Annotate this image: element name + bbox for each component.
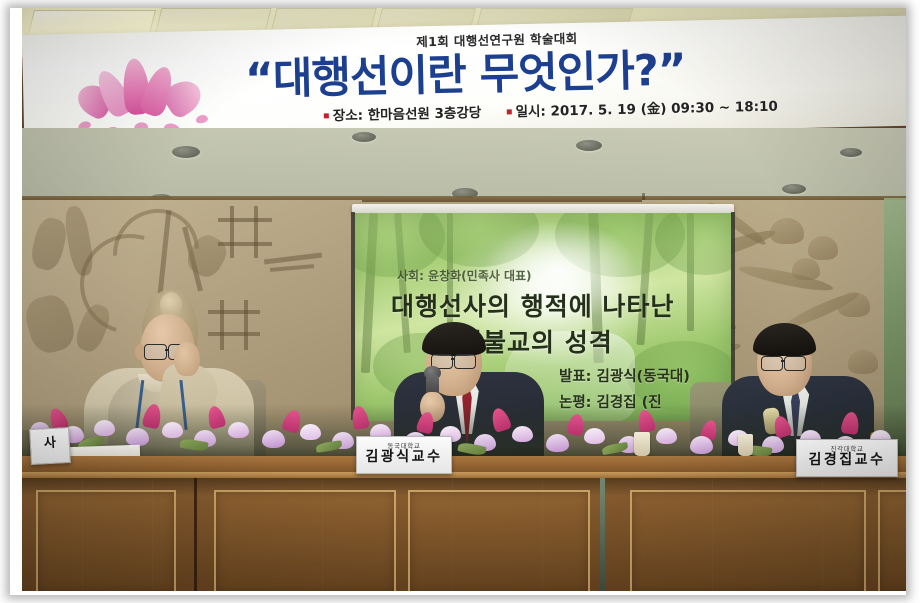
nameplate-right-name: 김경집교수 xyxy=(797,453,897,468)
glasses-bridge xyxy=(781,360,785,362)
ceiling-spotlight xyxy=(576,140,602,151)
bullet-square-icon xyxy=(324,113,329,118)
table-wood-panel xyxy=(630,490,866,591)
banner-title: “대행선이란 무엇인가?” xyxy=(244,36,686,108)
photo-frame: 제1회 대행선연구원 학술대회 “대행선이란 무엇인가?” 장소: 한마음선원 … xyxy=(0,0,920,603)
flower-arrangement xyxy=(22,404,906,462)
table-wood-panel xyxy=(214,490,396,591)
screen-title-line-1: 대행선사의 행적에 나타난 xyxy=(391,287,674,323)
table-wood-panel xyxy=(408,490,590,591)
quote-open-mark: “ xyxy=(244,54,273,106)
nameplate-center-name: 김광식교수 xyxy=(357,450,451,465)
glasses-icon xyxy=(761,356,783,371)
table-panel-seam xyxy=(600,478,605,591)
location-value: 한마음선원 3층강당 xyxy=(368,105,482,123)
ceiling-spotlight xyxy=(172,146,200,158)
projector-screen-roller xyxy=(352,204,734,213)
quote-close-mark: ” xyxy=(657,45,686,97)
table-wood-panel xyxy=(36,490,176,591)
location-label: 장소: xyxy=(333,108,364,125)
table-wood-panel xyxy=(878,490,906,591)
conference-photograph: 제1회 대행선연구원 학술대회 “대행선이란 무엇인가?” 장소: 한마음선원 … xyxy=(22,8,906,591)
screen-moderator-line: 사회: 윤창화(민족사 대표) xyxy=(397,267,532,284)
glasses-icon xyxy=(144,344,167,360)
paper-cup xyxy=(634,432,650,456)
monk-hand xyxy=(174,342,200,376)
glasses-icon xyxy=(454,354,476,369)
glasses-bridge xyxy=(451,358,455,360)
paper-cup xyxy=(738,434,753,456)
lotus-flower-icon xyxy=(71,55,223,136)
nameplate-left-name: 사 xyxy=(31,436,70,452)
screen-presenter-line: 발표: 김광식(동국대) xyxy=(559,365,690,386)
glasses-icon xyxy=(784,356,806,371)
banner-title-text: 대행선이란 무엇인가? xyxy=(272,46,658,104)
nameplate-right: 진각대학교 김경집교수 xyxy=(796,439,898,477)
nameplate-left: 사 xyxy=(29,427,71,465)
ceiling-spotlight xyxy=(840,148,862,157)
bullet-square-icon xyxy=(507,109,512,114)
event-banner: 제1회 대행선연구원 학술대회 “대행선이란 무엇인가?” 장소: 한마음선원 … xyxy=(22,16,906,145)
date-label: 일시: xyxy=(515,104,546,121)
date-value: 2017. 5. 19 (金) 09:30 ~ 18:10 xyxy=(550,99,778,120)
table-panel-seam xyxy=(194,478,197,591)
nameplate-center: 동국대학교 김광식교수 xyxy=(356,436,452,474)
ceiling-spotlight xyxy=(782,184,806,194)
ceiling-spotlight xyxy=(352,132,376,142)
glasses-bridge xyxy=(165,349,169,351)
